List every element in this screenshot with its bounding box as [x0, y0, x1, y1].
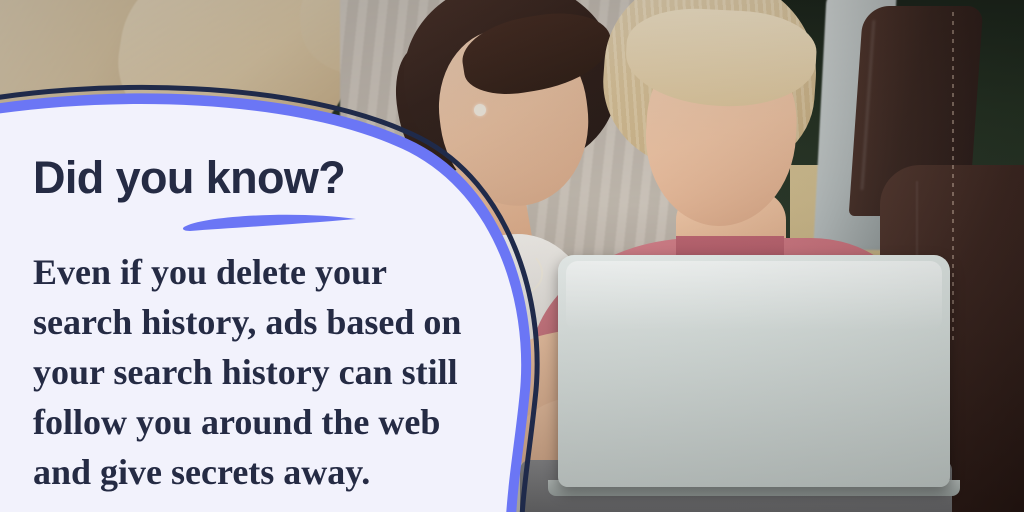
armchair-seam: [952, 12, 954, 342]
body-paragraph: Even if you delete your search history, …: [33, 247, 463, 497]
laptop-lid: [558, 255, 950, 487]
did-you-know-card: Did you know? Even if you delete your se…: [0, 0, 1024, 512]
panel-content: Did you know? Even if you delete your se…: [0, 0, 470, 512]
earring: [474, 104, 486, 116]
page-title: Did you know?: [33, 152, 345, 204]
